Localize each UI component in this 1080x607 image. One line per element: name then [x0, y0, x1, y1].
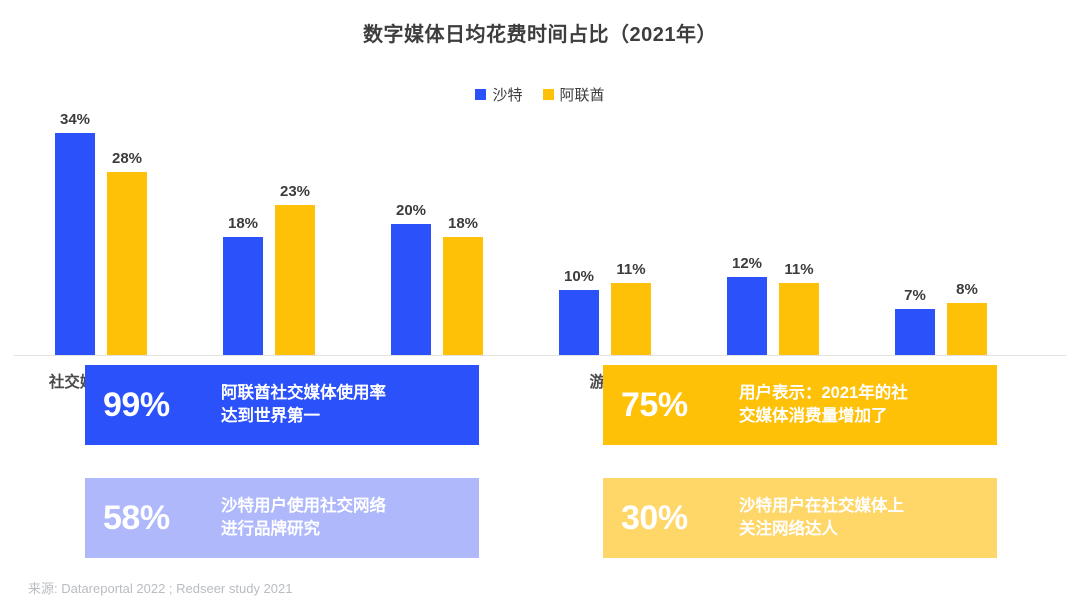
- stat-card-percent: 75%: [621, 386, 739, 425]
- bar-value-label: 18%: [433, 215, 493, 232]
- stat-card-line1: 沙特用户在社交媒体上: [739, 495, 904, 518]
- bar-uae[interactable]: [275, 205, 315, 355]
- stat-card-influencer-follow[interactable]: 30% 沙特用户在社交媒体上 关注网络达人: [603, 478, 997, 558]
- stat-card-text: 用户表示：2021年的社 交媒体消费量增加了: [739, 382, 908, 429]
- bar-uae[interactable]: [443, 237, 483, 355]
- bar-uae[interactable]: [947, 303, 987, 355]
- bar-saudi[interactable]: [727, 277, 767, 355]
- stat-card-line1: 阿联酋社交媒体使用率: [221, 382, 386, 405]
- x-axis-line: [14, 355, 1066, 356]
- bar-value-label: 12%: [717, 255, 777, 272]
- bar-chart-plot: 34%28%社交媒体&讯息18%23%网络电视20%18%短视频10%11%游戏…: [0, 55, 1080, 303]
- bar-value-label: 7%: [885, 287, 945, 304]
- bar-uae[interactable]: [611, 283, 651, 355]
- bar-saudi[interactable]: [223, 237, 263, 355]
- bar-value-label: 10%: [549, 268, 609, 285]
- bar-value-label: 28%: [97, 150, 157, 167]
- stat-card-text: 沙特用户使用社交网络 进行品牌研究: [221, 495, 386, 542]
- stat-card-line1: 用户表示：2021年的社: [739, 382, 908, 405]
- stat-card-percent: 58%: [103, 499, 221, 538]
- source-note: 来源: Datareportal 2022 ; Redseer study 20…: [28, 578, 292, 597]
- stat-card-line2: 进行品牌研究: [221, 518, 386, 541]
- stat-card-grid: 99% 阿联酋社交媒体使用率 达到世界第一 75% 用户表示：2021年的社 交…: [85, 365, 995, 555]
- stat-card-line1: 沙特用户使用社交网络: [221, 495, 386, 518]
- stat-card-uae-usage[interactable]: 99% 阿联酋社交媒体使用率 达到世界第一: [85, 365, 479, 445]
- bar-value-label: 18%: [213, 215, 273, 232]
- stat-card-percent: 30%: [621, 499, 739, 538]
- bar-uae[interactable]: [107, 172, 147, 355]
- stat-card-line2: 关注网络达人: [739, 518, 904, 541]
- stat-card-line2: 达到世界第一: [221, 405, 386, 428]
- bar-saudi[interactable]: [895, 309, 935, 355]
- bar-uae[interactable]: [779, 283, 819, 355]
- bar-saudi[interactable]: [391, 224, 431, 355]
- stat-card-text: 阿联酋社交媒体使用率 达到世界第一: [221, 382, 386, 429]
- stat-card-text: 沙特用户在社交媒体上 关注网络达人: [739, 495, 904, 542]
- bar-saudi[interactable]: [559, 290, 599, 355]
- stat-card-line2: 交媒体消费量增加了: [739, 405, 908, 428]
- bar-value-label: 23%: [265, 183, 325, 200]
- bar-saudi[interactable]: [55, 133, 95, 355]
- stat-card-consumption-increase[interactable]: 75% 用户表示：2021年的社 交媒体消费量增加了: [603, 365, 997, 445]
- bar-value-label: 8%: [937, 281, 997, 298]
- bar-value-label: 20%: [381, 202, 441, 219]
- bar-value-label: 11%: [601, 261, 661, 278]
- bar-value-label: 34%: [45, 111, 105, 128]
- stat-card-brand-research[interactable]: 58% 沙特用户使用社交网络 进行品牌研究: [85, 478, 479, 558]
- bar-value-label: 11%: [769, 261, 829, 278]
- page-title: 数字媒体日均花费时间占比（2021年）: [0, 18, 1080, 47]
- stat-card-percent: 99%: [103, 386, 221, 425]
